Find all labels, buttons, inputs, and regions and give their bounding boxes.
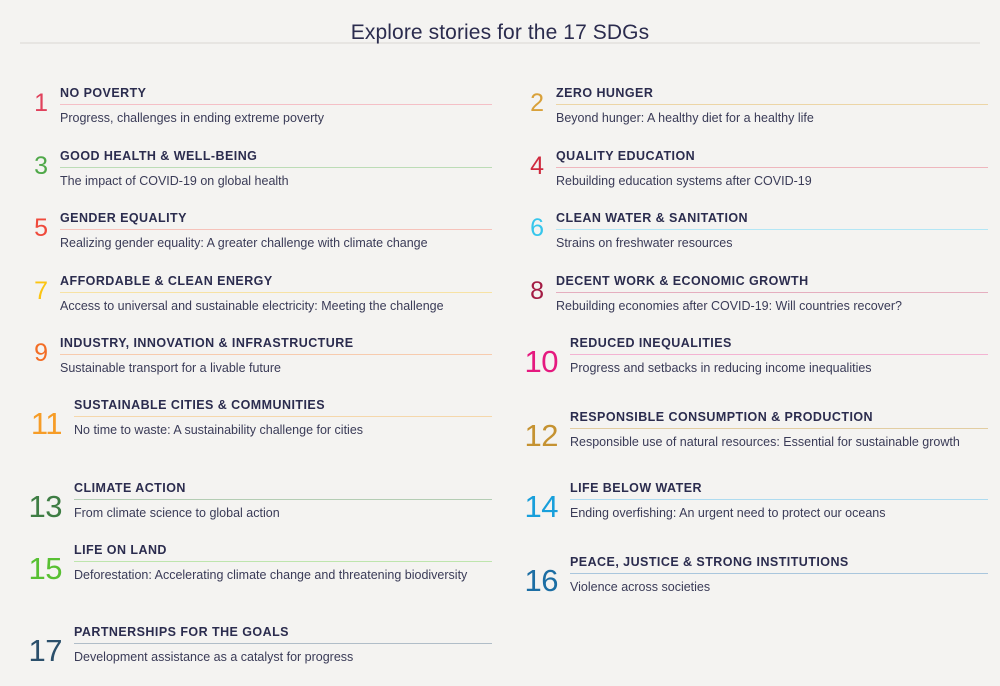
goal-title[interactable]: ZERO HUNGER bbox=[556, 86, 988, 104]
goal-body: REDUCED INEQUALITIESProgress and setback… bbox=[570, 336, 988, 377]
goals-list: 1NO POVERTYProgress, challenges in endin… bbox=[0, 44, 1000, 684]
goal-number: 3 bbox=[22, 149, 48, 179]
goal-title[interactable]: AFFORDABLE & CLEAN ENERGY bbox=[60, 274, 492, 292]
goal-number: 6 bbox=[518, 211, 544, 241]
goal-body: DECENT WORK & ECONOMIC GROWTHRebuilding … bbox=[556, 274, 988, 315]
goal-item[interactable]: 4QUALITY EDUCATIONRebuilding education s… bbox=[518, 149, 988, 190]
goal-number: 12 bbox=[518, 410, 558, 451]
goal-item[interactable]: 10REDUCED INEQUALITIESProgress and setba… bbox=[518, 336, 988, 377]
goal-title[interactable]: REDUCED INEQUALITIES bbox=[570, 336, 988, 354]
goal-description[interactable]: Strains on freshwater resources bbox=[556, 230, 988, 251]
goal-title[interactable]: LIFE ON LAND bbox=[74, 543, 492, 561]
goal-number: 15 bbox=[22, 543, 62, 584]
goal-item[interactable]: 16PEACE, JUSTICE & STRONG INSTITUTIONSVi… bbox=[518, 555, 988, 596]
goal-description[interactable]: Progress and setbacks in reducing income… bbox=[570, 355, 988, 376]
goal-title[interactable]: CLIMATE ACTION bbox=[74, 481, 492, 499]
goal-item[interactable]: 8DECENT WORK & ECONOMIC GROWTHRebuilding… bbox=[518, 274, 988, 315]
goal-body: QUALITY EDUCATIONRebuilding education sy… bbox=[556, 149, 988, 190]
goal-number: 4 bbox=[518, 149, 544, 179]
goal-title[interactable]: DECENT WORK & ECONOMIC GROWTH bbox=[556, 274, 988, 292]
goal-number: 11 bbox=[22, 398, 62, 439]
goal-description[interactable]: Progress, challenges in ending extreme p… bbox=[60, 105, 492, 126]
goal-description[interactable]: Deforestation: Accelerating climate chan… bbox=[74, 562, 492, 583]
goal-description[interactable]: Rebuilding economies after COVID-19: Wil… bbox=[556, 293, 988, 314]
goal-description[interactable]: Responsible use of natural resources: Es… bbox=[570, 429, 988, 450]
goal-description[interactable]: Access to universal and sustainable elec… bbox=[60, 293, 492, 314]
goal-description[interactable]: Violence across societies bbox=[570, 574, 988, 595]
goal-body: AFFORDABLE & CLEAN ENERGYAccess to unive… bbox=[60, 274, 492, 315]
goal-body: RESPONSIBLE CONSUMPTION & PRODUCTIONResp… bbox=[570, 410, 988, 451]
goal-number: 17 bbox=[22, 625, 62, 666]
goal-number: 5 bbox=[22, 211, 48, 241]
page-header: Explore stories for the 17 SDGs bbox=[0, 0, 1000, 42]
goal-number: 16 bbox=[518, 555, 558, 596]
goal-title[interactable]: PARTNERSHIPS FOR THE GOALS bbox=[74, 625, 492, 643]
goal-item[interactable]: 3GOOD HEALTH & WELL-BEINGThe impact of C… bbox=[22, 149, 492, 190]
goal-description[interactable]: Beyond hunger: A healthy diet for a heal… bbox=[556, 105, 988, 126]
goal-body: GOOD HEALTH & WELL-BEINGThe impact of CO… bbox=[60, 149, 492, 190]
goal-number: 8 bbox=[518, 274, 544, 304]
goal-body: PARTNERSHIPS FOR THE GOALSDevelopment as… bbox=[74, 625, 492, 666]
goal-description[interactable]: Sustainable transport for a livable futu… bbox=[60, 355, 492, 376]
goal-title[interactable]: QUALITY EDUCATION bbox=[556, 149, 988, 167]
goal-title[interactable]: CLEAN WATER & SANITATION bbox=[556, 211, 988, 229]
goal-item[interactable]: 12RESPONSIBLE CONSUMPTION & PRODUCTIONRe… bbox=[518, 410, 988, 451]
goal-number: 13 bbox=[22, 481, 62, 522]
goal-title[interactable]: NO POVERTY bbox=[60, 86, 492, 104]
goal-title[interactable]: SUSTAINABLE CITIES & COMMUNITIES bbox=[74, 398, 492, 416]
goal-description[interactable]: Ending overfishing: An urgent need to pr… bbox=[570, 500, 988, 521]
goal-number: 9 bbox=[22, 336, 48, 366]
goal-number: 10 bbox=[518, 336, 558, 377]
goal-item[interactable]: 2ZERO HUNGERBeyond hunger: A healthy die… bbox=[518, 86, 988, 127]
goal-body: INDUSTRY, INNOVATION & INFRASTRUCTURESus… bbox=[60, 336, 492, 377]
goal-body: CLEAN WATER & SANITATIONStrains on fresh… bbox=[556, 211, 988, 252]
goal-number: 14 bbox=[518, 481, 558, 522]
page-title: Explore stories for the 17 SDGs bbox=[351, 21, 649, 45]
goal-description[interactable]: The impact of COVID-19 on global health bbox=[60, 168, 492, 189]
goal-body: NO POVERTYProgress, challenges in ending… bbox=[60, 86, 492, 127]
goal-item[interactable]: 5GENDER EQUALITYRealizing gender equalit… bbox=[22, 211, 492, 252]
goal-body: LIFE ON LANDDeforestation: Accelerating … bbox=[74, 543, 492, 584]
goal-item[interactable]: 9INDUSTRY, INNOVATION & INFRASTRUCTURESu… bbox=[22, 336, 492, 377]
goal-body: PEACE, JUSTICE & STRONG INSTITUTIONSViol… bbox=[570, 555, 988, 596]
goal-number: 7 bbox=[22, 274, 48, 304]
goal-description[interactable]: Realizing gender equality: A greater cha… bbox=[60, 230, 492, 251]
goal-item[interactable]: 13CLIMATE ACTIONFrom climate science to … bbox=[22, 481, 492, 522]
goal-description[interactable]: No time to waste: A sustainability chall… bbox=[74, 417, 492, 438]
goal-description[interactable]: Development assistance as a catalyst for… bbox=[74, 644, 492, 665]
goal-title[interactable]: LIFE BELOW WATER bbox=[570, 481, 988, 499]
goal-number: 2 bbox=[518, 86, 544, 116]
goal-title[interactable]: RESPONSIBLE CONSUMPTION & PRODUCTION bbox=[570, 410, 988, 428]
goal-item[interactable]: 17PARTNERSHIPS FOR THE GOALSDevelopment … bbox=[22, 625, 492, 666]
goal-title[interactable]: GOOD HEALTH & WELL-BEING bbox=[60, 149, 492, 167]
goal-body: SUSTAINABLE CITIES & COMMUNITIESNo time … bbox=[74, 398, 492, 439]
sdg-explore-page: Explore stories for the 17 SDGs 1NO POVE… bbox=[0, 0, 1000, 686]
goal-item[interactable]: 6CLEAN WATER & SANITATIONStrains on fres… bbox=[518, 211, 988, 252]
goal-description[interactable]: Rebuilding education systems after COVID… bbox=[556, 168, 988, 189]
goal-title[interactable]: INDUSTRY, INNOVATION & INFRASTRUCTURE bbox=[60, 336, 492, 354]
goal-body: LIFE BELOW WATEREnding overfishing: An u… bbox=[570, 481, 988, 522]
goal-item[interactable]: 11SUSTAINABLE CITIES & COMMUNITIESNo tim… bbox=[22, 398, 492, 439]
goal-number: 1 bbox=[22, 86, 48, 116]
goal-description[interactable]: From climate science to global action bbox=[74, 500, 492, 521]
goal-body: GENDER EQUALITYRealizing gender equality… bbox=[60, 211, 492, 252]
goal-item[interactable]: 7AFFORDABLE & CLEAN ENERGYAccess to univ… bbox=[22, 274, 492, 315]
goal-title[interactable]: GENDER EQUALITY bbox=[60, 211, 492, 229]
goal-body: CLIMATE ACTIONFrom climate science to gl… bbox=[74, 481, 492, 522]
goal-item[interactable]: 1NO POVERTYProgress, challenges in endin… bbox=[22, 86, 492, 127]
goal-item[interactable]: 14LIFE BELOW WATEREnding overfishing: An… bbox=[518, 481, 988, 522]
goal-title[interactable]: PEACE, JUSTICE & STRONG INSTITUTIONS bbox=[570, 555, 988, 573]
goal-item[interactable]: 15LIFE ON LANDDeforestation: Acceleratin… bbox=[22, 543, 492, 584]
goal-body: ZERO HUNGERBeyond hunger: A healthy diet… bbox=[556, 86, 988, 127]
